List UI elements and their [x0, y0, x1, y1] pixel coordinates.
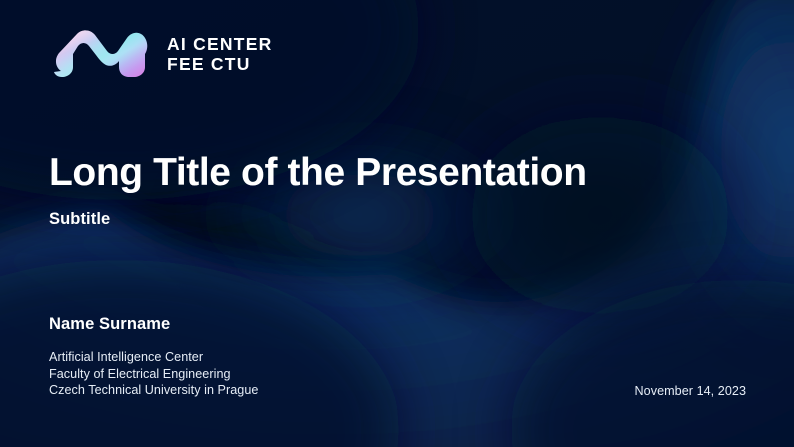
logo-line-2: FEE CTU — [167, 54, 273, 74]
affiliation-line: Artificial Intelligence Center — [49, 349, 258, 366]
affiliation-list: Artificial Intelligence Center Faculty o… — [49, 349, 258, 399]
presentation-title: Long Title of the Presentation — [49, 150, 587, 196]
author-name: Name Surname — [49, 313, 258, 335]
logo-lockup: AI CENTER FEE CTU — [49, 27, 273, 79]
logo-line-1: AI CENTER — [167, 34, 273, 54]
presentation-subtitle: Subtitle — [49, 208, 587, 230]
title-block: Long Title of the Presentation Subtitle — [49, 150, 587, 230]
affiliation-line: Faculty of Electrical Engineering — [49, 366, 258, 383]
presentation-date: November 14, 2023 — [635, 383, 746, 399]
author-block: Name Surname Artificial Intelligence Cen… — [49, 313, 258, 399]
ai-center-wave-logo-icon — [49, 27, 151, 79]
title-slide: AI CENTER FEE CTU Long Title of the Pres… — [0, 0, 794, 447]
affiliation-line: Czech Technical University in Prague — [49, 382, 258, 399]
logo-wordmark: AI CENTER FEE CTU — [167, 34, 273, 74]
